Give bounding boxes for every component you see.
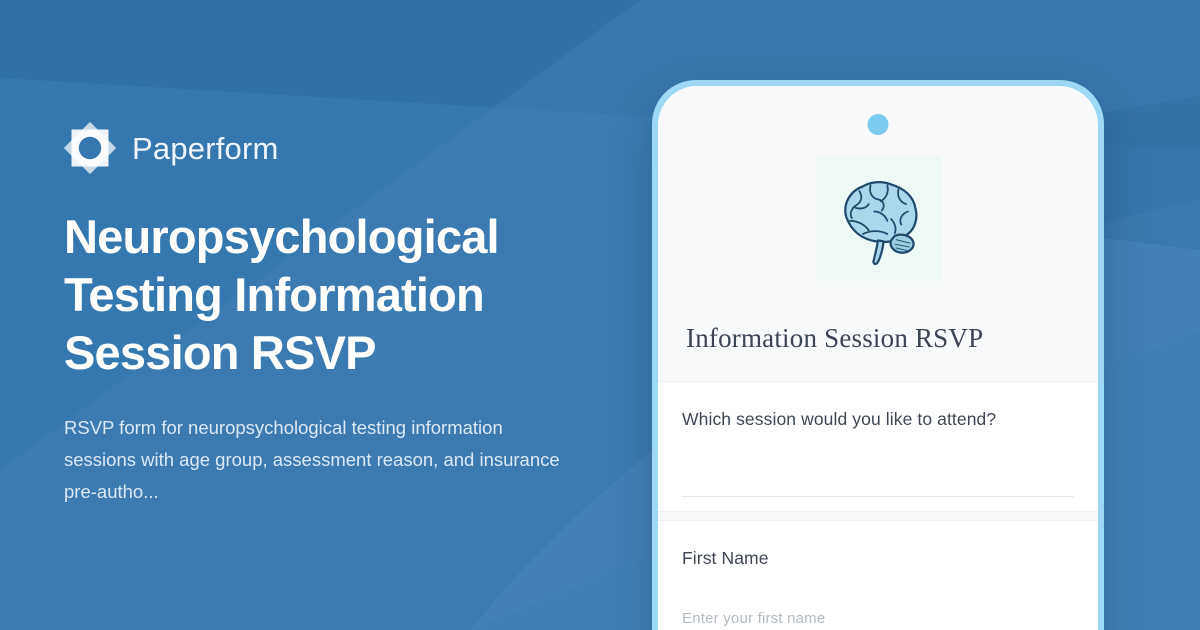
- phone-mockup: Information Session RSVP Which session w…: [652, 80, 1104, 630]
- page-title: Neuropsychological Testing Information S…: [64, 208, 594, 382]
- paperform-starburst-icon: [64, 122, 116, 174]
- hero-content-column: Paperform Neuropsychological Testing Inf…: [64, 0, 624, 630]
- brain-illustration-icon: [816, 156, 941, 281]
- phone-screen: Information Session RSVP Which session w…: [658, 86, 1098, 630]
- page-subtitle: RSVP form for neuropsychological testing…: [64, 412, 564, 507]
- form-field-session[interactable]: Which session would you like to attend?: [658, 381, 1098, 512]
- first-name-input[interactable]: Enter your first name: [682, 596, 1074, 630]
- camera-dot-icon: [868, 114, 889, 135]
- session-select-input[interactable]: [682, 457, 1074, 497]
- field-placeholder: Enter your first name: [682, 610, 825, 627]
- brand-logo[interactable]: Paperform: [64, 122, 624, 174]
- form-fields-list: Which session would you like to attend? …: [658, 381, 1098, 630]
- form-title: Information Session RSVP: [686, 323, 1098, 354]
- field-label: First Name: [682, 547, 1074, 570]
- field-label: Which session would you like to attend?: [682, 408, 1074, 431]
- brand-name-label: Paperform: [132, 133, 279, 164]
- form-field-first-name[interactable]: First Name Enter your first name: [658, 520, 1098, 630]
